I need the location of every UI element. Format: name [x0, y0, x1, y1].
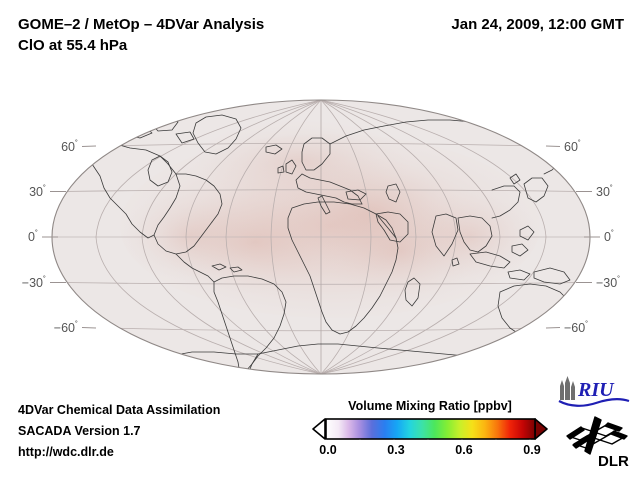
page-title-line-2: ClO at 55.4 hPa: [18, 35, 398, 56]
lat-label-right-60: 60˚: [564, 139, 581, 154]
colorbar-tick-labels: 0.0 0.3 0.6 0.9: [312, 443, 548, 461]
lat-label-left-60: 60˚: [61, 139, 78, 154]
footer-line-url[interactable]: http://wdc.dlr.de: [18, 442, 318, 463]
riu-tower-icon: [560, 376, 575, 400]
lat-label-left-m60: −60˚: [54, 320, 78, 335]
world-map-panel: 60˚ 30˚ 0˚ −30˚ −60˚ 60˚ 30˚ 0˚ −30˚ −60…: [0, 86, 640, 386]
footer-line-project: 4DVar Chemical Data Assimilation: [18, 400, 318, 421]
colorbar-bar: [326, 419, 535, 439]
dlr-logo-graphic: DLR: [564, 414, 634, 470]
riu-logo-graphic: RIU: [556, 374, 632, 408]
colorbar-gradient: [312, 418, 548, 440]
lat-label-right-0: 0˚: [604, 229, 614, 244]
header-timestamp: Jan 24, 2009, 12:00 GMT: [451, 14, 624, 35]
riu-logo: RIU: [556, 374, 632, 408]
dlr-emblem-icon: [567, 417, 627, 454]
colorbar-tick-3: 0.9: [523, 443, 540, 457]
dlr-logo-text: DLR: [598, 453, 629, 470]
page-title: GOME–2 / MetOp – 4DVar Analysis ClO at 5…: [18, 14, 398, 56]
colorbar-title: Volume Mixing Ratio [ppbv]: [312, 398, 548, 414]
colorbar-tick-0: 0.0: [319, 443, 336, 457]
riu-logo-text: RIU: [577, 379, 615, 401]
colorbar-tick-1: 0.3: [387, 443, 404, 457]
lat-label-left-30: 30˚: [29, 184, 46, 199]
lat-label-right-m60: −60˚: [564, 320, 588, 335]
lat-label-right-m30: −30˚: [596, 275, 620, 290]
dlr-logo: DLR: [564, 414, 634, 470]
lat-label-left-0: 0˚: [28, 229, 38, 244]
footer-credits: 4DVar Chemical Data Assimilation SACADA …: [18, 400, 318, 463]
page-title-line-1: GOME–2 / MetOp – 4DVar Analysis: [18, 14, 398, 35]
lat-label-right-30: 30˚: [596, 184, 613, 199]
colorbar-gradient-wrap: [312, 418, 548, 440]
colorbar-tick-2: 0.6: [455, 443, 472, 457]
colorbar-extend-max-arrow: [535, 419, 547, 439]
footer-line-version: SACADA Version 1.7: [18, 421, 318, 442]
lat-label-left-m30: −30˚: [22, 275, 46, 290]
colorbar: Volume Mixing Ratio [ppbv]: [312, 398, 548, 470]
colorbar-extend-min-arrow: [313, 419, 325, 439]
mollweide-map: 60˚ 30˚ 0˚ −30˚ −60˚ 60˚ 30˚ 0˚ −30˚ −60…: [0, 86, 640, 386]
